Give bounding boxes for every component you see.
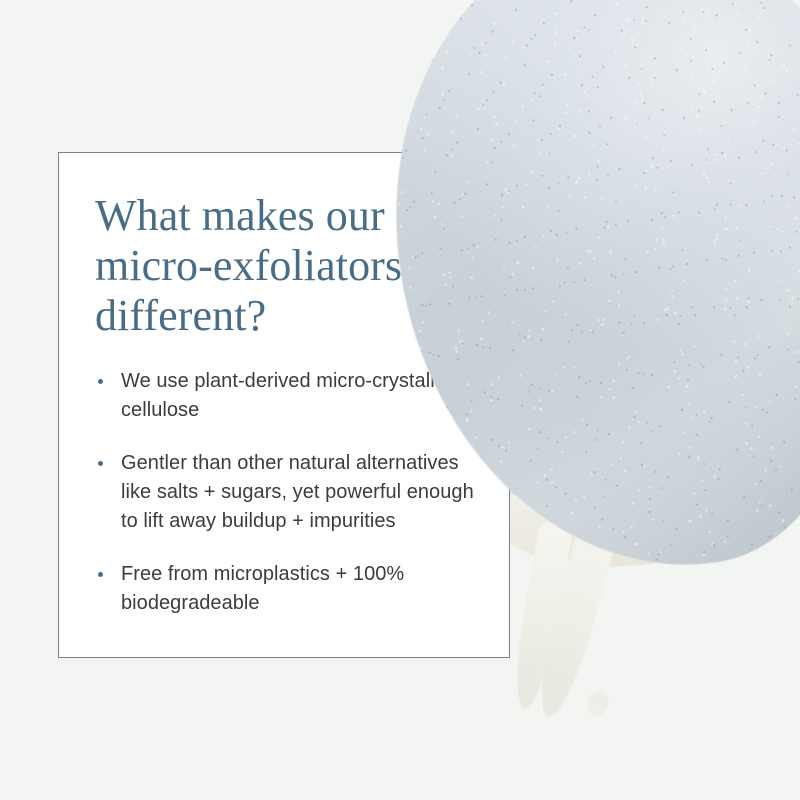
bullet-dot-icon	[98, 461, 103, 466]
micro-particle-texture-overlap	[353, 0, 800, 604]
cream-drip-tip	[585, 688, 611, 719]
bullet-dot-icon	[98, 379, 103, 384]
list-item-text: Free from microplastics + 100% biodegrad…	[121, 563, 404, 614]
smear-overlap-layer	[400, 0, 800, 570]
product-marketing-canvas: What makes our micro-exfoliators differe…	[0, 0, 800, 800]
bullet-dot-icon	[98, 572, 103, 577]
